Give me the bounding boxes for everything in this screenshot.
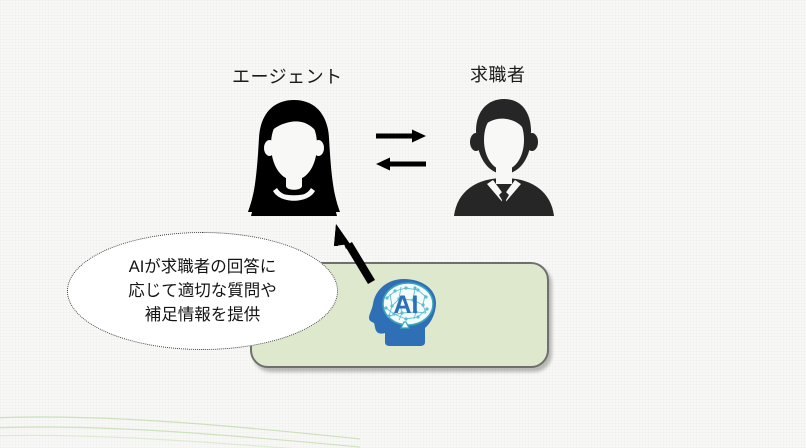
job-seeker-avatar-icon: [453, 96, 555, 218]
label-agent: エージェント: [232, 68, 343, 86]
background-curves-decoration: [0, 378, 360, 448]
arrow-right-icon: [376, 130, 426, 143]
slide-canvas: エージェント 求職者: [0, 0, 806, 448]
arrow-left-icon: [376, 158, 426, 171]
agent-avatar-icon: [246, 98, 342, 218]
bubble-line-3: 補足情報を提供: [145, 303, 261, 327]
exchange-arrows: [370, 124, 432, 178]
ai-icon-text: AI: [394, 291, 419, 319]
bubble-line-2: 応じて適切な質問や: [128, 279, 277, 303]
speech-bubble: AIが求職者の回答に 応じて適切な質問や 補足情報を提供: [67, 232, 338, 350]
pointer-arrow-icon: [328, 222, 382, 288]
bubble-line-1: AIが求職者の回答に: [129, 255, 277, 279]
label-job-seeker: 求職者: [470, 66, 526, 84]
